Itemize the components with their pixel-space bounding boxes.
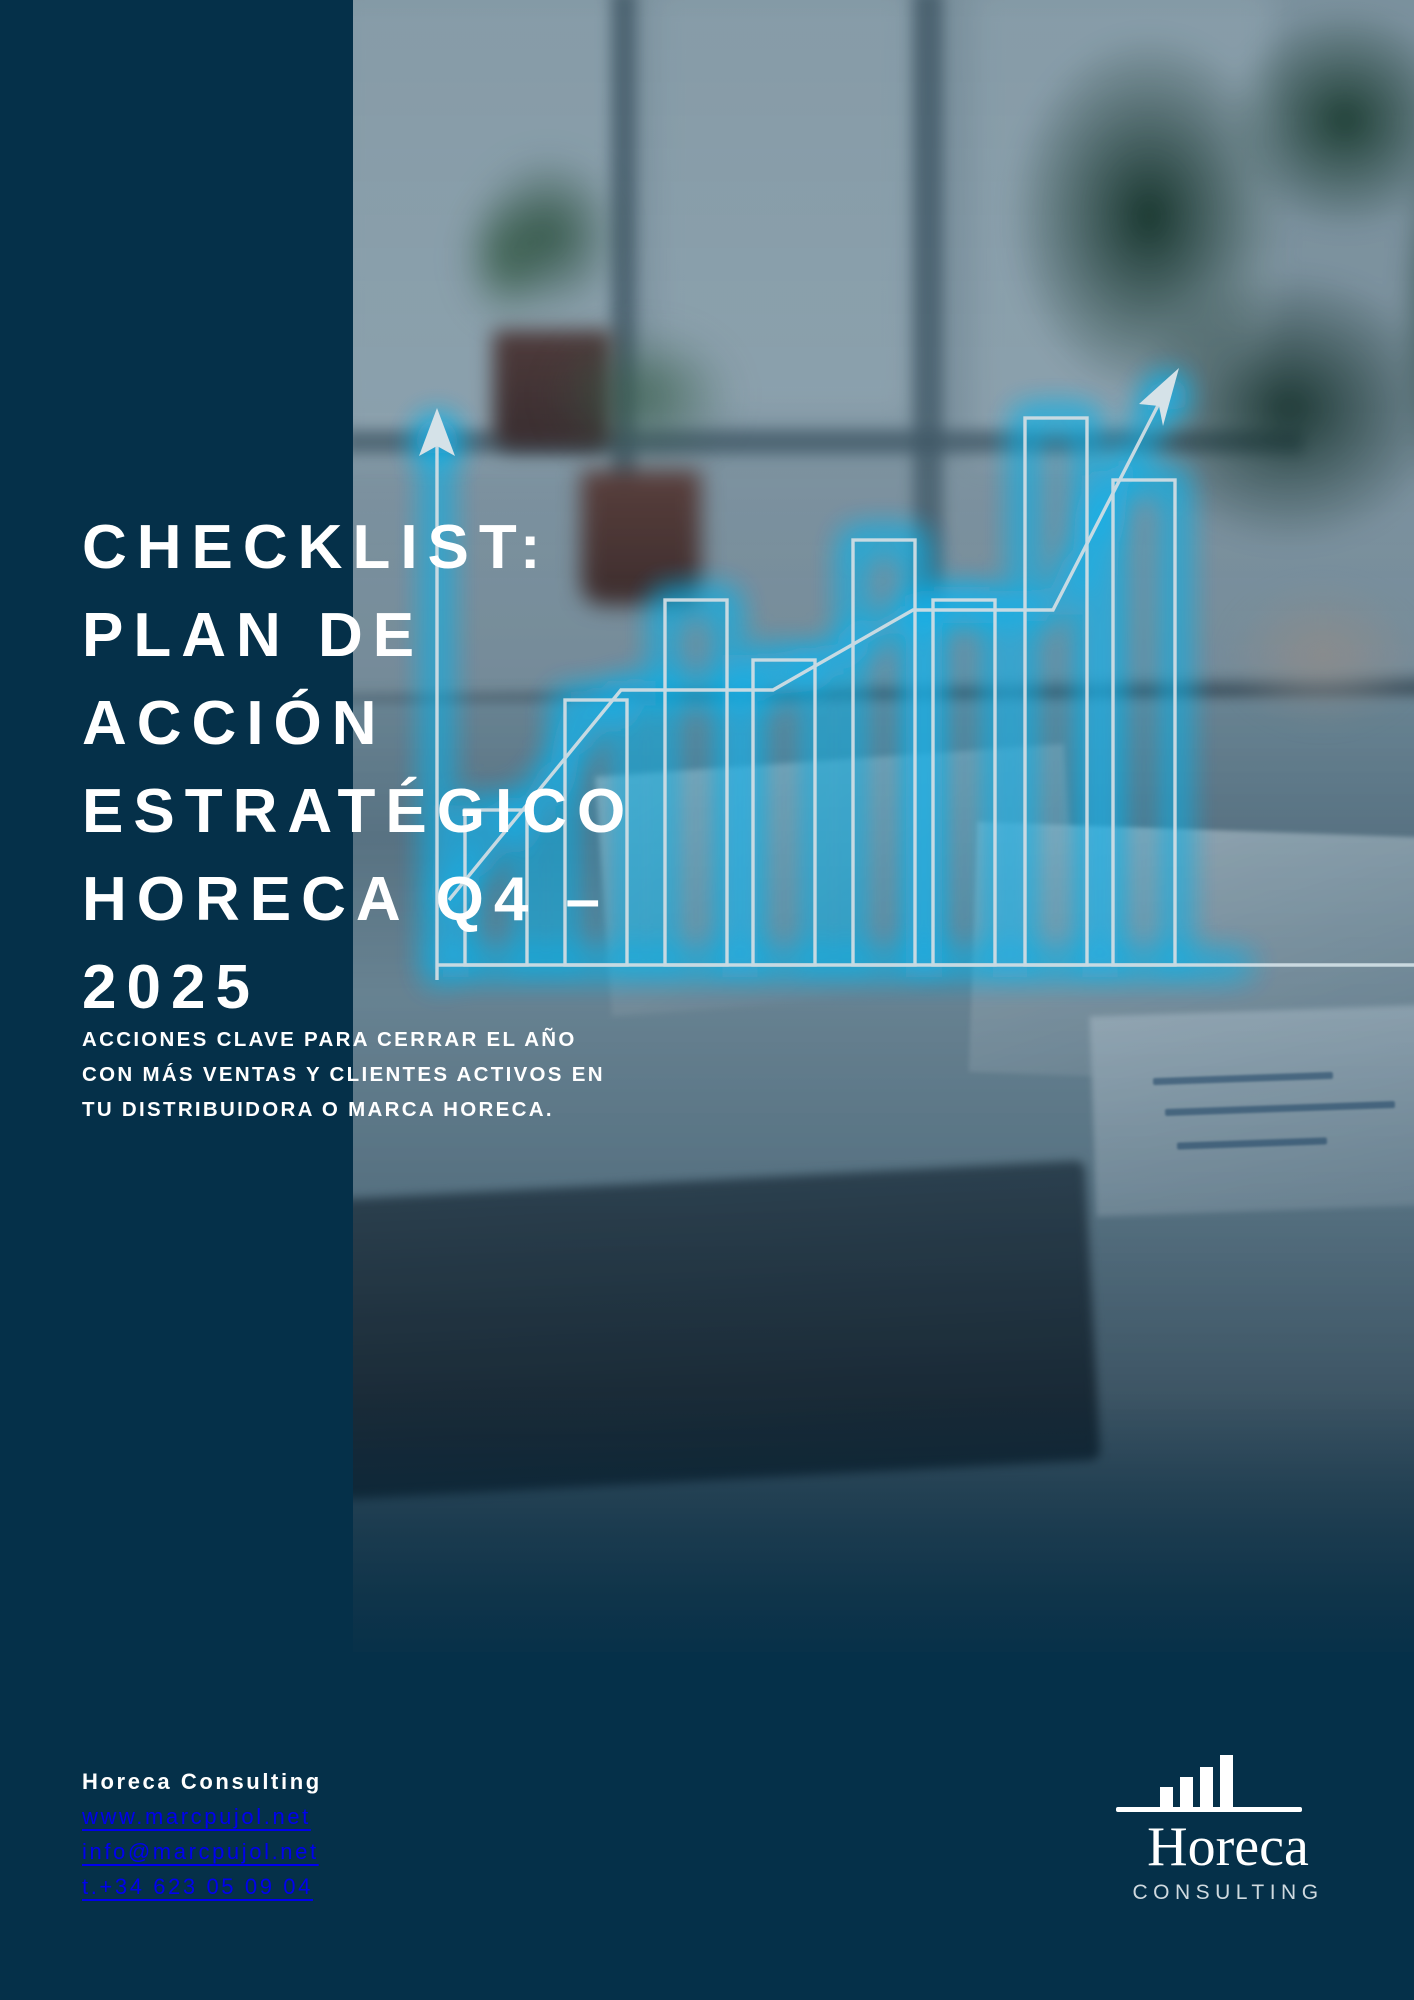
chart-bar — [1113, 480, 1175, 965]
email-link[interactable]: info@marcpujol.net — [82, 1834, 322, 1869]
cover-page: CHECKLIST: PLAN DE ACCIÓN ESTRATÉGICO HO… — [0, 0, 1414, 2000]
photo-bottom-fade — [353, 1392, 1414, 1652]
page-title: CHECKLIST: PLAN DE ACCIÓN ESTRATÉGICO HO… — [82, 504, 1082, 1032]
logo-tagline: CONSULTING — [1108, 1881, 1348, 1905]
horeca-consulting-logo: Horeca CONSULTING — [1108, 1755, 1348, 1925]
website-link[interactable]: www.marcpujol.net — [82, 1799, 322, 1834]
phone-link[interactable]: t.+34 623 05 09 04 — [82, 1869, 322, 1904]
page-subtitle: ACCIONES CLAVE PARA CERRAR EL AÑO CON MÁ… — [82, 1022, 722, 1127]
logo-wordmark: Horeca — [1108, 1815, 1348, 1879]
footer-contact-block: Horeca Consulting www.marcpujol.net info… — [82, 1764, 322, 1904]
logo-baseline — [1116, 1807, 1302, 1812]
company-name: Horeca Consulting — [82, 1764, 322, 1799]
bar-chart-icon — [1160, 1755, 1290, 1807]
